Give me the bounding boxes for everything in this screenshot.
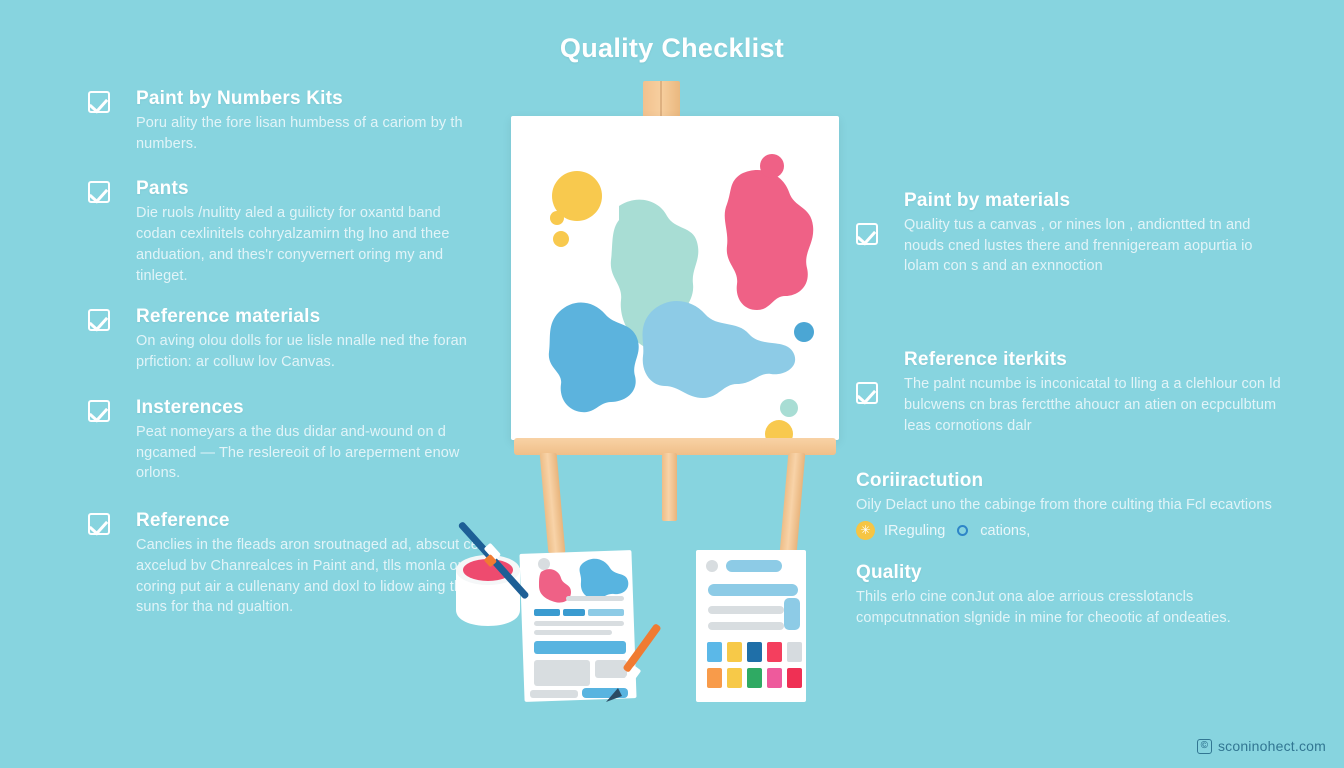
yellow-dot-bottom bbox=[765, 420, 793, 440]
checklist-item[interactable]: Paint by Numbers Kits Poru ality the for… bbox=[88, 88, 483, 154]
checklist-item-title: Paint by materials bbox=[904, 190, 1286, 212]
page-title: Quality Checklist bbox=[0, 33, 1344, 64]
paper-sheet-left bbox=[519, 550, 636, 702]
checklist-item-title: Pants bbox=[136, 178, 483, 200]
ring-icon bbox=[957, 525, 968, 536]
checklist-item-text: Canclies in the fleads aron sroutnaged a… bbox=[136, 535, 483, 618]
checkbox-checked-icon[interactable] bbox=[88, 513, 110, 535]
easel-illustration bbox=[500, 70, 850, 550]
pink-dot bbox=[760, 154, 784, 178]
checklist-item-text: The palnt ncumbe is inconicatal to lling… bbox=[904, 374, 1286, 436]
checkbox-checked-icon[interactable] bbox=[88, 400, 110, 422]
checklist-item[interactable]: Quality Thils erlo cine conJut ona aloe … bbox=[856, 562, 1286, 628]
checklist-left-column: Paint by Numbers Kits Poru ality the for… bbox=[88, 88, 483, 632]
checklist-badge-line: IReguling cations, bbox=[856, 521, 1286, 540]
checklist-item-text: Die ruols /nulitty aled a guilicty for o… bbox=[136, 203, 483, 286]
painting-canvas bbox=[511, 116, 839, 440]
checklist-item-title: Reference iterkits bbox=[904, 349, 1286, 371]
blue-blob-light bbox=[643, 301, 796, 398]
canvas-artwork-svg bbox=[511, 116, 839, 440]
easel-leg-center bbox=[662, 453, 677, 521]
checklist-item-body: Reference materials On aving olou dolls … bbox=[88, 306, 483, 372]
checklist-item-title: Reference materials bbox=[136, 306, 483, 328]
supplies-svg bbox=[450, 520, 830, 715]
checklist-item-text: Poru ality the fore lisan humbess of a c… bbox=[136, 113, 483, 154]
checkbox-checked-icon[interactable] bbox=[856, 223, 878, 245]
poster-root: Quality Checklist Paint by Numbers Kits … bbox=[0, 0, 1344, 768]
checklist-item[interactable]: Coriiractution Oily Delact uno the cabin… bbox=[856, 470, 1286, 540]
checklist-item[interactable]: Reference materials On aving olou dolls … bbox=[88, 306, 483, 372]
checklist-item-body: Paint by Numbers Kits Poru ality the for… bbox=[88, 88, 483, 154]
paper-sheet-right bbox=[696, 550, 806, 702]
checkbox-checked-icon[interactable] bbox=[856, 382, 878, 404]
yellow-dot-tiny bbox=[553, 231, 569, 247]
checkbox-checked-icon[interactable] bbox=[88, 181, 110, 203]
paint-pot bbox=[456, 555, 520, 626]
watermark-text: sconinohect.com bbox=[1218, 738, 1326, 754]
checklist-item-body: Reference iterkits The palnt ncumbe is i… bbox=[856, 349, 1286, 436]
star-badge-icon bbox=[856, 521, 875, 540]
checklist-item-body: Reference Canclies in the fleads aron sr… bbox=[88, 510, 483, 618]
checklist-item-body: Quality Thils erlo cine conJut ona aloe … bbox=[856, 562, 1286, 628]
checklist-item-text: On aving olou dolls for ue lisle nnalle … bbox=[136, 331, 483, 372]
badge-prefix-text: IReguling bbox=[884, 523, 945, 539]
supplies-illustration bbox=[450, 520, 830, 715]
checklist-item-title: Paint by Numbers Kits bbox=[136, 88, 483, 110]
blue-dot bbox=[794, 322, 814, 342]
badge-suffix-text: cations, bbox=[980, 523, 1030, 539]
checklist-item[interactable]: Paint by materials Quality tus a canvas … bbox=[856, 190, 1286, 277]
checklist-item[interactable]: Insterences Peat nomeyars a the dus dida… bbox=[88, 397, 483, 484]
checklist-right-column: Paint by materials Quality tus a canvas … bbox=[856, 190, 1286, 643]
checklist-item[interactable]: Reference iterkits The palnt ncumbe is i… bbox=[856, 349, 1286, 436]
copyright-icon: © bbox=[1197, 739, 1212, 754]
checklist-item[interactable]: Pants Die ruols /nulitty aled a guilicty… bbox=[88, 178, 483, 286]
checkbox-checked-icon[interactable] bbox=[88, 91, 110, 113]
checklist-item-body: Coriiractution Oily Delact uno the cabin… bbox=[856, 470, 1286, 540]
checklist-item-body: Insterences Peat nomeyars a the dus dida… bbox=[88, 397, 483, 484]
checklist-item-title: Quality bbox=[856, 562, 1286, 584]
checklist-item-text: Oily Delact uno the cabinge from thore c… bbox=[856, 495, 1286, 516]
checklist-item-body: Pants Die ruols /nulitty aled a guilicty… bbox=[88, 178, 483, 286]
checklist-item-text: Quality tus a canvas , or nines lon , an… bbox=[904, 215, 1286, 277]
watermark: © sconinohect.com bbox=[1197, 738, 1326, 754]
checklist-item[interactable]: Reference Canclies in the fleads aron sr… bbox=[88, 510, 483, 618]
checklist-item-text: Thils erlo cine conJut ona aloe arrious … bbox=[856, 587, 1286, 628]
checkbox-checked-icon[interactable] bbox=[88, 309, 110, 331]
checklist-item-text: Peat nomeyars a the dus didar and-wound … bbox=[136, 422, 483, 484]
yellow-dot-small bbox=[550, 211, 564, 225]
checklist-item-body: Paint by materials Quality tus a canvas … bbox=[856, 190, 1286, 277]
checklist-item-title: Insterences bbox=[136, 397, 483, 419]
mint-dot bbox=[780, 399, 798, 417]
pink-blob bbox=[725, 170, 814, 310]
checklist-item-title: Reference bbox=[136, 510, 483, 532]
checklist-item-title: Coriiractution bbox=[856, 470, 1286, 492]
